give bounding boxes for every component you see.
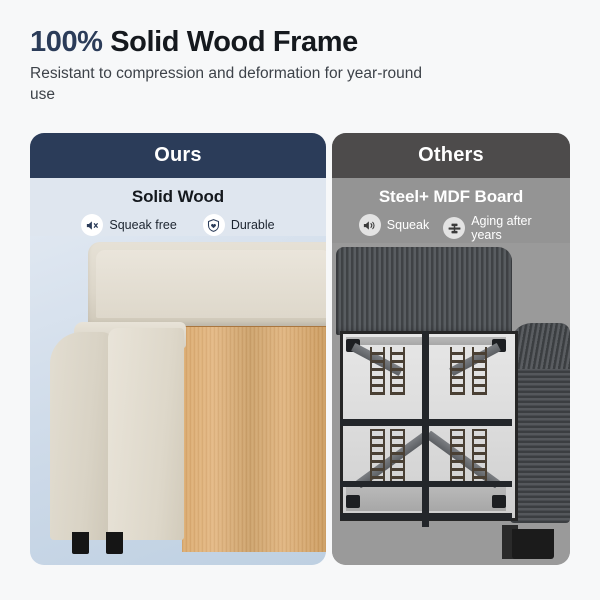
speaker-mute-icon [81,214,103,236]
ours-feature-squeak-free: Squeak free [81,214,176,236]
shield-heart-icon [203,214,225,236]
ours-material-label: Solid Wood [30,187,326,207]
sofa-arm-outer [50,332,114,540]
sofa-arm-front [108,328,184,540]
ours-feature-row: Squeak free Durable [30,214,326,236]
speaker-sound-icon [359,214,381,236]
others-feature-squeak: Squeak [359,214,429,236]
sofa-leg [106,532,123,554]
steel-rail-vertical [422,331,429,527]
others-feature-aging: Aging after years [443,214,543,243]
corduroy-arm-top [510,323,570,369]
zigzag-spring [390,429,405,487]
comparison-container: Ours Solid Wood Squeak free [30,133,570,565]
title-rest: Solid Wood Frame [103,26,358,58]
sofa-leg [512,529,554,559]
ours-feature-durable: Durable [203,214,275,236]
zigzag-spring [472,429,487,487]
panel-others: Others Steel+ MDF Board Squeak [332,133,570,565]
sofa-leg [72,532,89,554]
frame-corner-bracket [346,495,360,508]
frame-corner-bracket [492,495,506,508]
others-feature-row: Squeak Aging after years [332,214,570,243]
others-feature-label: Squeak [387,218,429,232]
panel-ours: Ours Solid Wood Squeak free [30,133,326,565]
panel-others-info: Steel+ MDF Board Squeak [332,178,570,243]
zigzag-spring [472,347,487,395]
steel-rail-bottom [340,513,512,520]
others-material-label: Steel+ MDF Board [332,187,570,207]
ours-product-photo [30,236,326,565]
panel-others-header: Others [332,133,570,178]
panel-ours-info: Solid Wood Squeak free [30,178,326,236]
others-feature-label: Aging after years [471,214,543,243]
zigzag-spring [370,347,385,395]
corduroy-backrest [336,247,512,335]
sofa-backrest-inner [96,250,326,318]
zigzag-spring [370,429,385,487]
zigzag-spring [450,429,465,487]
zigzag-spring [390,347,405,395]
page-title: 100% Solid Wood Frame [30,26,570,58]
zigzag-spring [450,347,465,395]
heading-block: 100% Solid Wood Frame Resistant to compr… [30,26,570,105]
ours-feature-label: Squeak free [109,218,176,232]
wood-frame-cutaway [182,308,326,552]
ours-feature-label: Durable [231,218,275,232]
title-highlight: 100% [30,26,103,58]
spring-coil-icon [443,217,465,239]
others-product-photo [332,243,570,565]
panel-ours-header: Ours [30,133,326,178]
page-subtitle: Resistant to compression and deformation… [30,64,430,105]
